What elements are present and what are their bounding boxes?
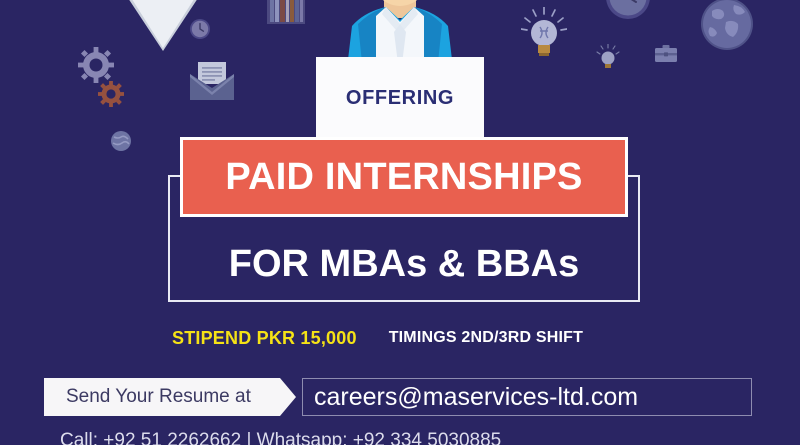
internship-poster: OFFERING FOR MBAs & BBAs PAID INTERNSHIP…: [0, 0, 800, 445]
globe-large-icon: [700, 0, 754, 51]
clock-large-icon: [605, 0, 651, 20]
resume-tag: Send Your Resume at: [44, 378, 296, 416]
gear-large-icon: [78, 47, 114, 83]
timings-text: TIMINGS 2ND/3RD SHIFT: [389, 329, 583, 347]
mail-open-icon: [190, 62, 234, 100]
lightbulb-small-icon: [596, 44, 620, 72]
lightbulb-large-icon: [521, 7, 567, 59]
primary-headline: PAID INTERNSHIPS: [225, 156, 582, 199]
stipend-text: STIPEND PKR 15,000: [172, 328, 357, 349]
email-box[interactable]: careers@maservices-ltd.com: [302, 378, 752, 416]
offering-card: OFFERING: [316, 57, 484, 140]
globe-small-icon: [110, 130, 132, 152]
briefcase-icon: [655, 44, 677, 64]
gear-small-icon: [98, 81, 124, 107]
resume-label: Send Your Resume at: [66, 386, 251, 408]
primary-headline-banner: PAID INTERNSHIPS: [180, 137, 628, 217]
contact-line: Call: +92 51 2262662 | Whatsapp: +92 334…: [60, 430, 760, 445]
email-address[interactable]: careers@maservices-ltd.com: [314, 383, 638, 412]
envelope-white-icon: [88, 0, 238, 48]
secondary-headline: FOR MBAs & BBAs: [229, 243, 579, 286]
details-row: STIPEND PKR 15,000 TIMINGS 2ND/3RD SHIFT: [172, 325, 692, 351]
clock-icon: [189, 18, 211, 40]
cta-bar: Send Your Resume at careers@maservices-l…: [44, 378, 752, 416]
offering-label: OFFERING: [346, 87, 454, 110]
